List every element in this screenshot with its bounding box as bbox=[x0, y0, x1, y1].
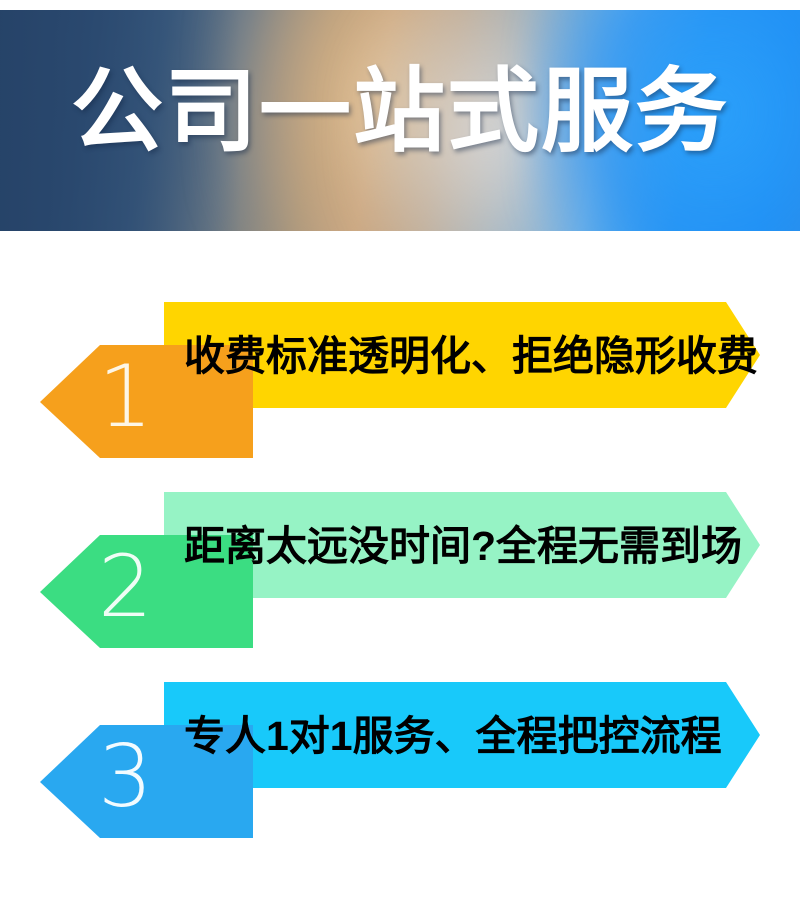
feature-text-3: 专人1对1服务、全程把控流程 bbox=[184, 712, 722, 760]
header-banner: 公司一站式服务 bbox=[0, 10, 800, 231]
feature-shape-3 bbox=[0, 672, 800, 848]
feature-shape-1 bbox=[0, 292, 800, 468]
feature-text-1: 收费标准透明化、拒绝隐形收费 bbox=[184, 332, 758, 380]
feature-shape-2 bbox=[0, 482, 800, 658]
feature-row-1: 1 收费标准透明化、拒绝隐形收费 bbox=[0, 292, 800, 468]
feature-row-2: 2 距离太远没时间?全程无需到场 bbox=[0, 482, 800, 658]
page-title: 公司一站式服务 bbox=[0, 60, 800, 164]
feature-text-2: 距离太远没时间?全程无需到场 bbox=[184, 522, 742, 570]
feature-row-3: 3 专人1对1服务、全程把控流程 bbox=[0, 672, 800, 848]
